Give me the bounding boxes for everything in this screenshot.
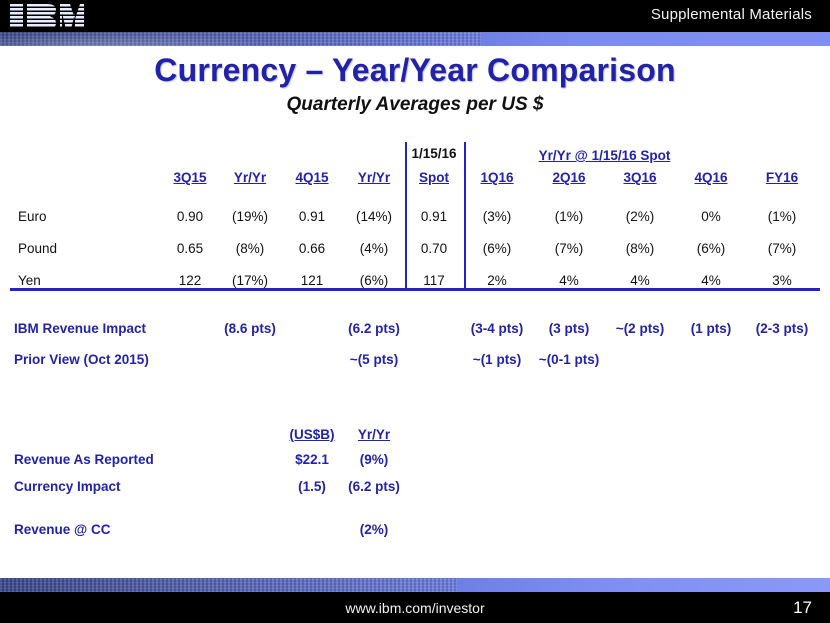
spot-column-right-rule [464,142,466,290]
cell-pound-c3q16: (8%) [626,241,655,256]
cell-ibm-revenue-impact-fy16: (2-3 pts) [756,321,809,336]
summary-yryr-revenue-@-cc: (2%) [360,522,389,537]
column-header-yr1: Yr/Yr [234,170,266,185]
row-label-prior-view-oct-2015: Prior View (Oct 2015) [14,352,149,367]
cell-yen-c3q15: 122 [179,273,202,288]
cell-pound-yr1: (8%) [236,241,265,256]
column-header-c3q16: 3Q16 [623,170,656,185]
spot-column-left-rule [405,142,407,290]
cell-euro-spot: 0.91 [421,209,447,224]
cell-prior-view-oct-2015-yr2: ~(5 pts) [350,352,398,367]
summary-header-yr-yr: Yr/Yr [358,427,390,442]
cell-yen-yr2: (6%) [360,273,389,288]
cell-yen-c2q16: 4% [559,273,579,288]
column-header-c4q15: 4Q15 [295,170,328,185]
spot-date-label: 1/15/16 [411,146,456,161]
cell-pound-c1q16: (6%) [483,241,512,256]
cell-euro-c4q15: 0.91 [299,209,325,224]
cell-yen-c1q16: 2% [487,273,507,288]
cell-yen-c4q16: 4% [701,273,721,288]
cell-ibm-revenue-impact-c3q16: ~(2 pts) [616,321,664,336]
cell-euro-c3q16: (2%) [626,209,655,224]
column-header-spot: Spot [419,170,449,185]
cell-pound-yr2: (4%) [360,241,389,256]
column-header-c3q15: 3Q15 [173,170,206,185]
summary-label-revenue-@-cc: Revenue @ CC [14,522,110,537]
cell-pound-c3q15: 0.65 [177,241,203,256]
cell-yen-c3q16: 4% [630,273,650,288]
column-header-c1q16: 1Q16 [480,170,513,185]
row-label-ibm-revenue-impact: IBM Revenue Impact [14,321,146,336]
footer-stripe-texture [0,578,457,592]
cell-yen-spot: 117 [423,273,445,288]
summary-label-revenue-as-reported: Revenue As Reported [14,452,154,467]
summary-header-us-b: (US$B) [289,427,334,442]
cell-pound-c4q15: 0.66 [299,241,325,256]
cell-ibm-revenue-impact-c1q16: (3-4 pts) [471,321,524,336]
cell-prior-view-oct-2015-c2q16: ~(0-1 pts) [539,352,599,367]
cell-yen-fy16: 3% [772,273,792,288]
column-header-fy16: FY16 [766,170,798,185]
span-header-yryr-spot: Yr/Yr @ 1/15/16 Spot [539,148,671,163]
cell-pound-c2q16: (7%) [555,241,584,256]
row-label-yen: Yen [18,273,41,288]
summary-usd-revenue-as-reported: $22.1 [295,452,329,467]
cell-euro-fy16: (1%) [768,209,797,224]
cell-euro-yr2: (14%) [356,209,392,224]
cell-pound-c4q16: (6%) [697,241,726,256]
investor-url[interactable]: www.ibm.com/investor [0,600,830,616]
footer-accent-stripe [0,578,830,592]
cell-euro-yr1: (19%) [232,209,268,224]
cell-pound-fy16: (7%) [768,241,797,256]
cell-euro-c3q15: 0.90 [177,209,203,224]
cell-prior-view-oct-2015-c1q16: ~(1 pts) [473,352,521,367]
summary-usd-currency-impact: (1.5) [298,479,326,494]
cell-euro-c1q16: (3%) [483,209,512,224]
summary-yryr-revenue-as-reported: (9%) [360,452,389,467]
cell-euro-c2q16: (1%) [555,209,584,224]
cell-ibm-revenue-impact-c4q16: (1 pts) [691,321,732,336]
column-header-yr2: Yr/Yr [358,170,390,185]
cell-yen-c4q15: 121 [301,273,324,288]
cell-ibm-revenue-impact-yr2: (6.2 pts) [348,321,400,336]
summary-yryr-currency-impact: (6.2 pts) [348,479,400,494]
cell-yen-yr1: (17%) [232,273,268,288]
row-label-pound: Pound [18,241,57,256]
cell-euro-c4q16: 0% [701,209,721,224]
cell-ibm-revenue-impact-yr1: (8.6 pts) [224,321,276,336]
column-header-c2q16: 2Q16 [552,170,585,185]
cell-pound-spot: 0.70 [421,241,447,256]
page-number: 17 [793,598,812,618]
summary-label-currency-impact: Currency Impact [14,479,121,494]
column-header-c4q16: 4Q16 [694,170,727,185]
cell-ibm-revenue-impact-c2q16: (3 pts) [549,321,590,336]
currency-table: Yr/Yr @ 1/15/16 Spot1/15/163Q15Yr/Yr4Q15… [0,0,830,623]
row-label-euro: Euro [18,209,47,224]
table-bottom-rule [10,288,820,291]
